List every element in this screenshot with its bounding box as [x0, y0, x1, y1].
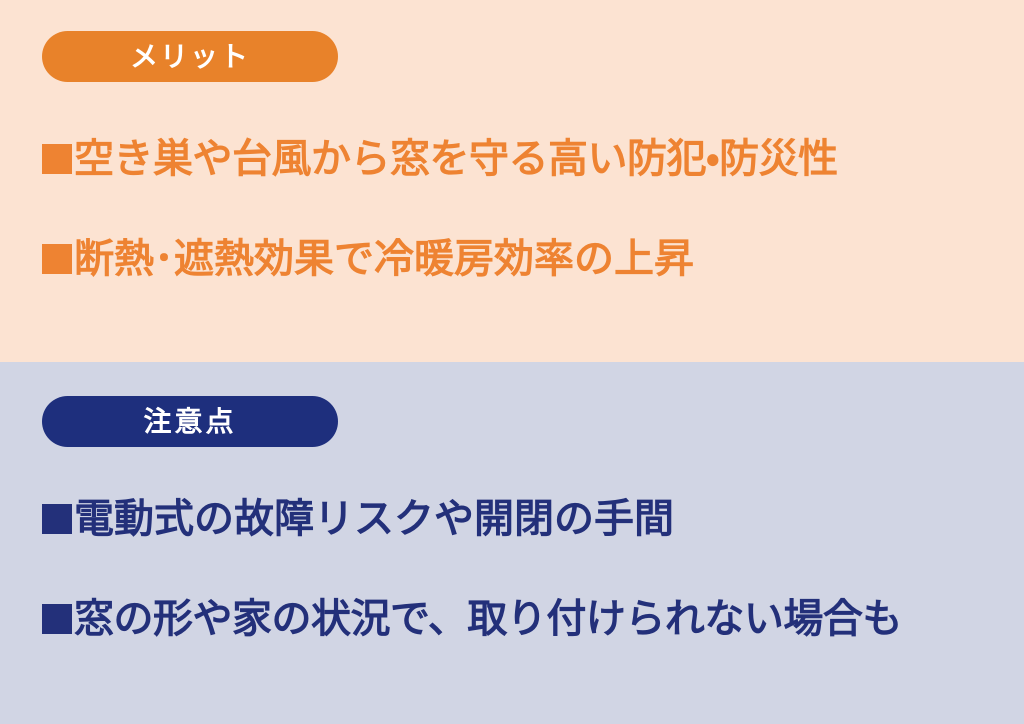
caution-list: 電動式の故障リスクや開閉の手間 窓の形や家の状況で、取り付けられない場合も — [42, 493, 1014, 645]
merit-badge: メリット — [42, 31, 338, 82]
caution-item-text: 窓の形や家の状況で、取り付けられない場合も — [74, 599, 902, 639]
caution-badge: 注意点 — [42, 396, 338, 447]
square-bullet-icon — [42, 604, 72, 634]
list-item: 電動式の故障リスクや開閉の手間 — [42, 493, 1014, 545]
caution-section: 注意点 電動式の故障リスクや開閉の手間 窓の形や家の状況で、取り付けられない場合… — [0, 362, 1024, 724]
list-item: 空き巣や台風から窓を守る高い防犯・防災性 — [42, 133, 1014, 185]
merit-section: メリット 空き巣や台風から窓を守る高い防犯・防災性 断熱･遮熱効果で冷暖房効率の… — [0, 0, 1024, 362]
caution-badge-label: 注意点 — [143, 408, 236, 436]
merit-item-text: 空き巣や台風から窓を守る高い防犯・防災性 — [74, 139, 838, 179]
square-bullet-icon — [42, 504, 72, 534]
square-bullet-icon — [42, 244, 72, 274]
merit-list: 空き巣や台風から窓を守る高い防犯・防災性 断熱･遮熱効果で冷暖房効率の上昇 — [42, 133, 1014, 285]
comparison-board: メリット 空き巣や台風から窓を守る高い防犯・防災性 断熱･遮熱効果で冷暖房効率の… — [0, 0, 1024, 724]
merit-badge-label: メリット — [130, 43, 250, 71]
square-bullet-icon — [42, 144, 72, 174]
caution-item-text: 電動式の故障リスクや開閉の手間 — [74, 499, 674, 539]
merit-item-text: 断熱･遮熱効果で冷暖房効率の上昇 — [74, 239, 694, 279]
list-item: 窓の形や家の状況で、取り付けられない場合も — [42, 593, 1014, 645]
list-item: 断熱･遮熱効果で冷暖房効率の上昇 — [42, 233, 1014, 285]
